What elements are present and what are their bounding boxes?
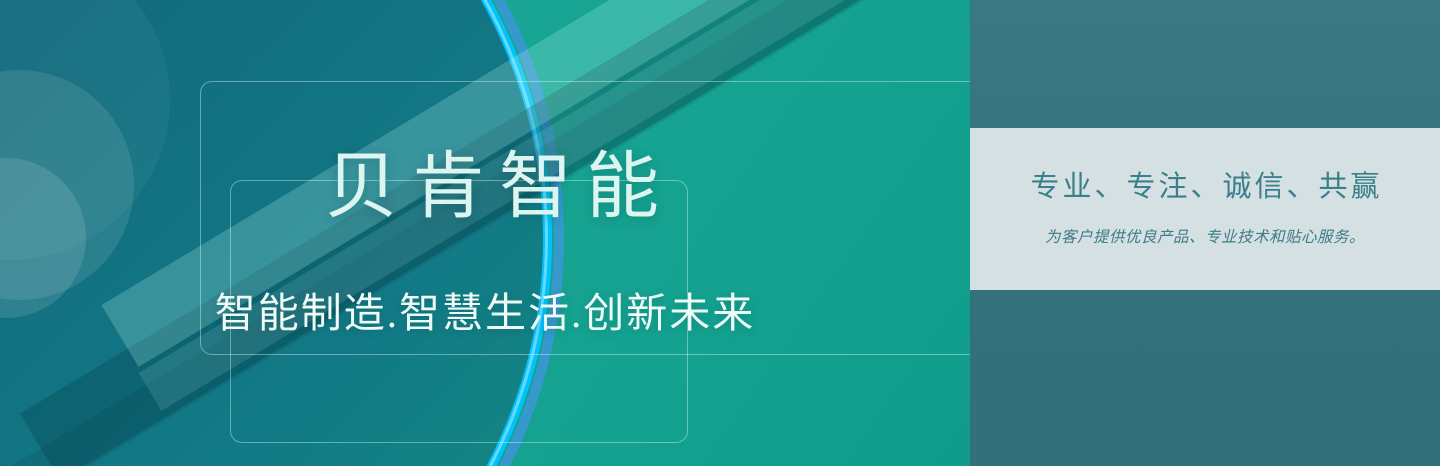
- hero-text-block: 贝肯智能 智能制造.智慧生活.创新未来: [0, 0, 970, 466]
- side-panel-card: 专业、专注、诚信、共赢 为客户提供优良产品、专业技术和贴心服务。: [970, 128, 1440, 290]
- hero-title: 贝肯智能: [311, 132, 673, 223]
- side-panel: 专业、专注、诚信、共赢 为客户提供优良产品、专业技术和贴心服务。: [970, 0, 1440, 466]
- promo-banner: 贝肯智能 智能制造.智慧生活.创新未来 专业、专注、诚信、共赢 为客户提供优良产…: [0, 0, 1440, 466]
- hero-section: 贝肯智能 智能制造.智慧生活.创新未来: [0, 0, 970, 466]
- hero-subtitle: 智能制造.智慧生活.创新未来: [215, 293, 756, 334]
- side-panel-heading: 专业、专注、诚信、共赢: [1030, 173, 1382, 202]
- side-panel-subtext: 为客户提供优良产品、专业技术和贴心服务。: [1045, 230, 1365, 246]
